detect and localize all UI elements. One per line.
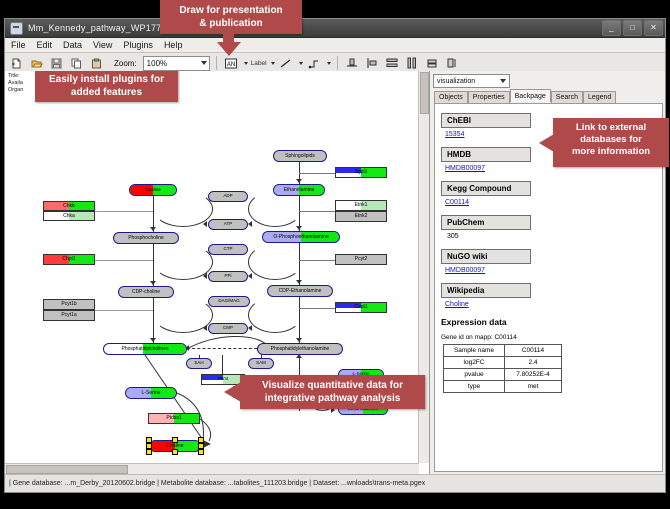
backpage-section: NuGO wikiHMDB00097 (441, 246, 662, 274)
metabolite-node-phosphatidylcholines[interactable]: Phosphatidylcholines (103, 343, 187, 355)
metabolite-node-phosphocholine[interactable]: Phosphocholine (113, 232, 179, 244)
menu-help[interactable]: Help (162, 40, 185, 50)
callout-link-line1: Link to external (560, 122, 662, 134)
expression-data-title: Expression data (441, 317, 662, 327)
node-label: Phosphatidylethanolamine (271, 347, 330, 352)
node-label: ADP (223, 194, 232, 199)
edge-curve (248, 297, 302, 333)
node-label: DAG/MAG (218, 299, 239, 304)
scrollbar-thumb[interactable] (420, 72, 429, 114)
edge (299, 211, 335, 212)
statusbar: | Gene database: ...m_Derby_20120602.bri… (5, 474, 665, 492)
status-text: | Gene database: ...m_Derby_20120602.bri… (9, 480, 425, 487)
node-label: Chpt1 (62, 257, 75, 262)
backpage-external-link[interactable]: Choline (445, 301, 662, 308)
edge (95, 310, 153, 311)
chevron-down-icon[interactable] (327, 62, 331, 65)
arrow-icon (150, 338, 156, 342)
distribute-h-icon[interactable] (404, 55, 421, 72)
expression-table: Sample nameC00114log2FC2.4pvalue7.80252E… (443, 344, 562, 393)
tab-backpage[interactable]: Backpage (510, 89, 551, 102)
arrow-icon (248, 273, 252, 279)
node-label: L-Serine (142, 391, 161, 396)
edge (299, 173, 335, 174)
metabolite-node-ppi[interactable]: PPi (208, 271, 248, 282)
callout-plugins-line1: Easily install plugins for (42, 73, 171, 86)
scrollbar-thumb[interactable] (6, 465, 128, 474)
gene-node-cept1[interactable]: Cept1 (335, 302, 387, 313)
close-button[interactable]: ✕ (644, 20, 663, 36)
line-tool-icon[interactable] (278, 55, 295, 72)
save-icon[interactable] (48, 55, 65, 72)
stack-icon[interactable] (424, 55, 441, 72)
callout-plugins-line2: added features (42, 86, 171, 99)
expression-value: met (505, 381, 562, 393)
tab-properties[interactable]: Properties (468, 91, 510, 103)
visualization-value: visualization (437, 78, 475, 85)
expression-table-row: log2FC2.4 (444, 357, 562, 369)
zoom-label: Zoom: (114, 59, 137, 68)
callout-draw-line1: Draw for presentation (167, 4, 295, 17)
pathway-organism-label: Organ (8, 87, 23, 94)
callout-visualize: Visualize quantitative data for integrat… (240, 375, 425, 409)
node-label: Choline (167, 444, 184, 449)
window-titlebar: Mm_Kennedy_pathway_WP1771_45176.gpml _ □… (5, 19, 665, 38)
edge (95, 211, 153, 212)
gene-node-ptdss1[interactable]: Ptdss1 (148, 413, 200, 424)
backpage-section: Kegg CompoundC00114 (441, 178, 662, 206)
metabolite-node-cmp[interactable]: CMP (208, 323, 248, 334)
metabolite-node-cdp-ethanolamine[interactable]: CDP-Ethanolamine (267, 285, 333, 297)
anchor-icon[interactable]: AN (223, 55, 240, 72)
edge (95, 260, 153, 261)
edge-curve (248, 244, 302, 280)
arrow-icon (150, 281, 156, 285)
metabolite-node-sam[interactable]: SAM (248, 358, 274, 369)
selection-handle[interactable] (172, 449, 178, 455)
backpage-value: 305 (447, 233, 662, 240)
visualization-combo[interactable]: visualization (433, 74, 510, 88)
arrow-icon (296, 280, 302, 284)
selection-handle[interactable] (146, 449, 152, 455)
expression-key: log2FC (444, 357, 505, 369)
arrow-icon (203, 221, 207, 227)
expression-value: C00114 (505, 345, 562, 357)
node-label: Chka (63, 214, 75, 219)
node-label: Sphingolipids (285, 154, 315, 159)
zoom-combo[interactable]: 100% (143, 56, 210, 71)
menubar: File Edit Data View Plugins Help (5, 38, 665, 53)
chevron-down-icon (500, 79, 506, 83)
callout-draw-arrow-stem (223, 34, 234, 43)
node-label: PPi (224, 274, 231, 279)
copy-icon[interactable] (68, 55, 85, 72)
pathway-canvas[interactable]: Title: Availa Organ (5, 71, 430, 474)
pathway-availability-label: Availa (8, 80, 23, 87)
node-label: Choline (145, 188, 160, 193)
selection-handle[interactable] (198, 449, 204, 455)
minimize-button[interactable]: _ (602, 20, 621, 36)
menu-file[interactable]: File (9, 40, 28, 50)
node-label: Pcyt1b (61, 302, 76, 307)
metabolite-node-l-serine[interactable]: L-Serine (125, 387, 177, 399)
order-icon[interactable] (444, 55, 461, 72)
metabolite-node-ctp[interactable]: CTP (208, 244, 248, 255)
callout-visualize-line2: integrative pathway analysis (247, 392, 418, 405)
callout-link-line2: databases for (560, 134, 662, 146)
node-label: SAM (256, 361, 266, 366)
node-label: ATP (224, 222, 232, 227)
node-label: Cept1 (354, 305, 367, 310)
distribute-v-icon[interactable] (384, 55, 401, 72)
chevron-down-icon[interactable] (271, 62, 275, 65)
backpage-section-header: Kegg Compound (441, 181, 531, 196)
pathway-title-label: Title: (8, 73, 23, 80)
arrow-icon (203, 273, 207, 279)
side-panel-tabs: Objects Properties Backpage Search Legen… (434, 91, 663, 103)
gene-id-label: Gene id on mapp: C00114 (441, 334, 662, 341)
expression-table-row: typemet (444, 381, 562, 393)
node-label: SAH (194, 361, 203, 366)
gene-node-chkb[interactable]: Chkb (43, 201, 95, 211)
chevron-down-icon (201, 61, 207, 65)
arrow-icon (296, 338, 302, 342)
toolbar-separator (216, 56, 217, 70)
arrow-icon (296, 179, 302, 183)
tab-search[interactable]: Search (551, 91, 583, 103)
expression-key: type (444, 381, 505, 393)
metabolite-node-dag-mag[interactable]: DAG/MAG (208, 296, 250, 307)
align-top-icon[interactable] (344, 55, 361, 72)
arrow-icon (203, 325, 207, 331)
edge (299, 308, 335, 309)
expression-table-row: pvalue7.80252E-4 (444, 369, 562, 381)
callout-draw-arrow (217, 42, 241, 56)
gene-node-sgpl1[interactable]: Sgpl1 (335, 167, 387, 178)
node-label: O-Phosphoethanolamine (273, 235, 328, 240)
edge-curve (248, 191, 302, 227)
metabolite-node-sah[interactable]: SAH (186, 358, 212, 369)
backpage-external-link[interactable]: C00114 (445, 199, 662, 206)
open-file-icon[interactable] (28, 55, 45, 72)
canvas-horizontal-scrollbar[interactable] (5, 463, 419, 474)
gene-node-etnk1[interactable]: Etnk1 (335, 200, 387, 211)
tab-legend[interactable]: Legend (583, 91, 616, 103)
backpage-section-header: PubChem (441, 215, 531, 230)
metabolite-node-ethanolamine[interactable]: Ethanolamine (273, 184, 325, 196)
node-label: Chkb (63, 204, 75, 209)
arrow-icon (150, 227, 156, 231)
backpage-section-header: HMDB (441, 147, 531, 162)
app-icon (10, 22, 23, 35)
toolbar-separator (337, 56, 338, 70)
gene-node-pcyt2[interactable]: Pcyt2 (335, 254, 387, 265)
node-label: CTP (224, 247, 233, 252)
metabolite-node-choline[interactable]: Choline (129, 184, 177, 196)
window-buttons: _ □ ✕ (602, 20, 663, 36)
gene-node-chpt1[interactable]: Chpt1 (43, 254, 95, 265)
node-label: Phosphatidylcholines (122, 347, 169, 352)
new-file-icon[interactable] (8, 55, 25, 72)
callout-link-arrow-stem (548, 138, 556, 148)
menu-plugins[interactable]: Plugins (121, 40, 155, 50)
pathway-info: Title: Availa Organ (8, 73, 23, 94)
gene-node-pcyt1a[interactable]: Pcyt1a (43, 310, 95, 321)
node-label: Ethanolamine (284, 188, 315, 193)
callout-link-line3: more information (560, 146, 662, 158)
callout-draw: Draw for presentation & publication (160, 0, 302, 34)
gene-node-pcyt1b[interactable]: Pcyt1b (43, 299, 95, 310)
node-label: Pcyt1a (61, 313, 76, 318)
arrow-icon (248, 221, 252, 227)
chevron-down-icon[interactable] (299, 62, 303, 65)
menu-view[interactable]: View (91, 40, 114, 50)
node-label: CDP-choline (132, 290, 160, 295)
backpage-section-header: ChEBI (441, 113, 531, 128)
node-label: Ptdss1 (166, 416, 181, 421)
node-label: Etnk1 (355, 203, 368, 208)
zoom-value: 100% (147, 59, 167, 68)
expression-table-row: Sample nameC00114 (444, 345, 562, 357)
callout-draw-line2: & publication (167, 17, 295, 30)
pathvisio-window: Mm_Kennedy_pathway_WP1771_45176.gpml _ □… (4, 18, 666, 493)
maximize-button[interactable]: □ (623, 20, 642, 36)
metabolite-node-o-phosphoethanolamine[interactable]: O-Phosphoethanolamine (262, 231, 340, 243)
node-label: CDP-Ethanolamine (279, 289, 322, 294)
callout-link: Link to external databases for more info… (553, 118, 669, 167)
metabolite-node-adp[interactable]: ADP (208, 191, 248, 202)
tab-objects[interactable]: Objects (434, 91, 468, 103)
edge (299, 260, 335, 261)
arrow-icon (248, 325, 252, 331)
arrow-icon (296, 226, 302, 230)
menu-edit[interactable]: Edit (35, 40, 55, 50)
metabolite-node-atp[interactable]: ATP (208, 219, 248, 230)
metabolite-node-phosphatidylethanolamine[interactable]: Phosphatidylethanolamine (257, 343, 343, 355)
node-label: Etnk2 (355, 214, 368, 219)
expression-key: pvalue (444, 369, 505, 381)
backpage-section-header: NuGO wiki (441, 249, 531, 264)
expression-key: Sample name (444, 345, 505, 357)
menu-data[interactable]: Data (61, 40, 84, 50)
align-left-icon[interactable] (364, 55, 381, 72)
backpage-section: PubChem305 (441, 212, 662, 240)
edge-dashed (187, 348, 257, 350)
svg-text:AN: AN (227, 62, 235, 68)
node-label: Sgpl1 (355, 170, 368, 175)
gene-node-etnk2[interactable]: Etnk2 (335, 211, 387, 222)
gene-node-chka[interactable]: Chka (43, 211, 95, 221)
selection-handle[interactable] (172, 437, 178, 443)
label-tool-label[interactable]: Label (251, 60, 267, 67)
node-label: CMP (223, 326, 233, 331)
callout-plugins: Easily install plugins for added feature… (35, 71, 178, 102)
backpage-external-link[interactable]: HMDB00097 (445, 267, 662, 274)
callout-visualize-arrow-stem (233, 386, 243, 398)
edge (222, 355, 223, 374)
callout-plugins-arrow-stem (95, 71, 105, 73)
chevron-down-icon[interactable] (244, 62, 248, 65)
node-label: Pcyt2 (355, 257, 368, 262)
paste-icon[interactable] (88, 55, 105, 72)
metabolite-node-sphingolipids[interactable]: Sphingolipids (273, 150, 327, 162)
node-label: Phosphocholine (128, 236, 164, 241)
metabolite-node-cdp-choline[interactable]: CDP-choline (118, 286, 174, 298)
expression-value: 7.80252E-4 (505, 369, 562, 381)
screenshot-root: Mm_Kennedy_pathway_WP1771_45176.gpml _ □… (0, 0, 670, 509)
backpage-section: WikipediaCholine (441, 280, 662, 308)
backpage-section-header: Wikipedia (441, 283, 531, 298)
callout-visualize-line1: Visualize quantitative data for (247, 379, 418, 392)
expression-value: 2.4 (505, 357, 562, 369)
connector-tool-icon[interactable] (306, 55, 323, 72)
